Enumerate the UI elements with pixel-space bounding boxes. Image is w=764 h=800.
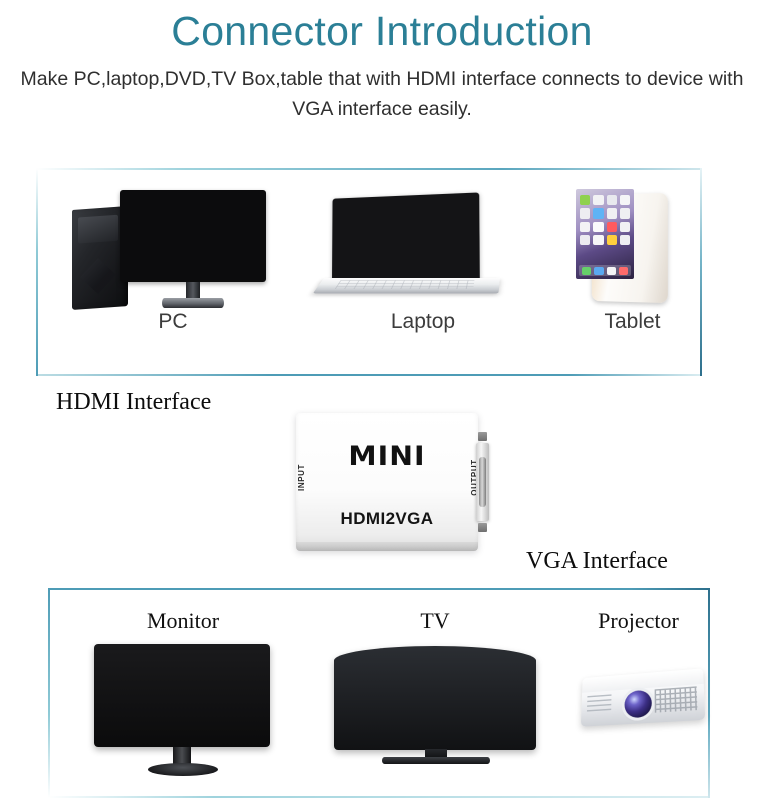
- desktop-computer-icon: [58, 180, 288, 310]
- tablet-icon: [560, 180, 705, 310]
- app-icon: [607, 235, 617, 245]
- vga-port-core: [479, 457, 486, 507]
- device-label-pc: PC: [58, 310, 288, 334]
- converter-input-label: INPUT: [297, 464, 306, 491]
- laptop-keyboard-base: [313, 278, 500, 293]
- device-item-monitor: Monitor: [68, 608, 298, 783]
- app-icon: [593, 208, 603, 218]
- dock-icon: [582, 267, 591, 275]
- dock-icon: [594, 267, 603, 275]
- projector-icon: [556, 608, 721, 783]
- laptop-icon: [318, 180, 528, 310]
- device-item-tv: TV: [320, 608, 550, 783]
- converter-brand-text: MINI: [291, 441, 482, 472]
- panel-border-left: [36, 168, 38, 376]
- app-icon: [593, 222, 603, 232]
- device-label-laptop: Laptop: [318, 310, 528, 334]
- app-icon: [580, 195, 590, 205]
- app-icon: [580, 235, 590, 245]
- tv-frame: [334, 646, 536, 750]
- app-icon: [620, 235, 630, 245]
- projector-body: [581, 668, 705, 726]
- pc-monitor-icon: [120, 190, 266, 282]
- app-icon: [620, 222, 630, 232]
- hdmi-interface-label: HDMI Interface: [56, 389, 211, 416]
- app-icon: [580, 222, 590, 232]
- app-icon: [607, 208, 617, 218]
- app-icon: [593, 195, 603, 205]
- dock-icon: [619, 267, 628, 275]
- app-icon: [580, 208, 590, 218]
- television-icon: [320, 608, 550, 783]
- monitor-frame: [94, 644, 270, 747]
- converter-body: MINI HDMI2VGA INPUT OUTPUT: [296, 413, 478, 551]
- panel-border-top: [48, 588, 710, 590]
- page-title: Connector Introduction: [0, 8, 764, 55]
- app-icon: [620, 208, 630, 218]
- page-subtitle: Make PC,laptop,DVD,TV Box,table that wit…: [10, 64, 754, 124]
- panel-border-left: [48, 588, 50, 798]
- device-item-projector: Projector: [556, 608, 721, 783]
- app-icon: [620, 195, 630, 205]
- device-label-tablet: Tablet: [560, 310, 705, 334]
- monitor-icon: [68, 608, 298, 783]
- dock-icon: [607, 267, 616, 275]
- app-icon: [607, 195, 617, 205]
- device-item-laptop: Laptop: [318, 180, 528, 345]
- app-icon: [607, 222, 617, 232]
- tablet-dock: [579, 265, 631, 276]
- device-item-pc: PC: [58, 180, 288, 345]
- panel-border-top: [36, 168, 702, 170]
- device-item-tablet: Tablet: [560, 180, 705, 345]
- app-icon: [593, 235, 603, 245]
- panel-border-bottom: [36, 374, 702, 376]
- projector-vent-left: [587, 694, 612, 713]
- monitor-stand-base: [148, 763, 218, 776]
- converter-model-text: HDMI2VGA: [296, 509, 478, 529]
- vga-interface-label: VGA Interface: [526, 548, 668, 575]
- panel-border-bottom: [48, 796, 710, 798]
- projector-vent-right: [655, 686, 698, 712]
- tablet-app-grid: [580, 195, 630, 245]
- laptop-lid: [332, 192, 480, 282]
- tablet-screen: [576, 189, 634, 279]
- pc-monitor-stand-base: [162, 298, 224, 308]
- projector-lens-icon: [624, 690, 651, 719]
- tv-stand-base: [382, 757, 490, 764]
- hdmi-to-vga-converter-icon: MINI HDMI2VGA INPUT OUTPUT: [296, 413, 481, 553]
